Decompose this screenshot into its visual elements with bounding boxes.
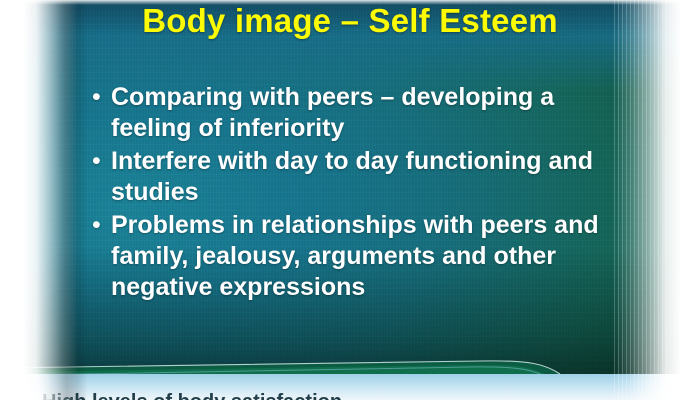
bullet-point-icon: • (92, 210, 111, 241)
slide-right-edge-streaks (614, 0, 700, 400)
bullet-text: Comparing with peers – developing a feel… (111, 82, 632, 144)
slide-bullet-list: • Comparing with peers – developing a fe… (92, 82, 632, 305)
list-item: • Interfere with day to day functioning … (92, 146, 632, 208)
bullet-text: Interfere with day to day functioning an… (111, 146, 632, 208)
next-slide-preview[interactable]: High levels of body satisfaction (0, 374, 700, 400)
slide-top-edge-fade (0, 0, 700, 5)
bullet-point-icon: • (92, 146, 111, 177)
slide-left-edge-fade (0, 0, 78, 400)
list-item: • Comparing with peers – developing a fe… (92, 82, 632, 144)
bullet-text: Problems in relationships with peers and… (111, 210, 632, 303)
list-item: • Problems in relationships with peers a… (92, 210, 632, 303)
bullet-point-icon: • (92, 82, 111, 113)
slide-title: Body image – Self Esteem (0, 2, 700, 40)
presentation-slide: Body image – Self Esteem • Comparing wit… (0, 0, 700, 400)
